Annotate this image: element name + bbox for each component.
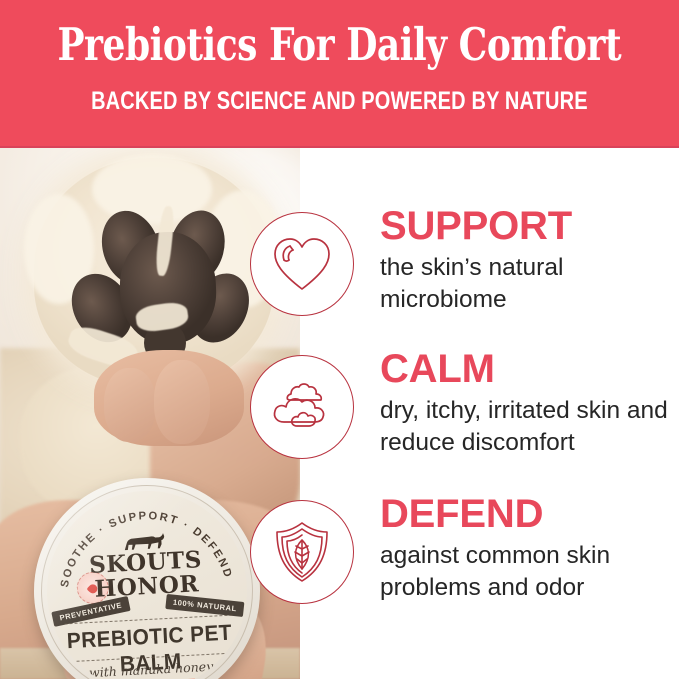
feature-text: SUPPORT the skin’s natural microbiome <box>380 206 676 316</box>
clouds-icon <box>250 355 354 459</box>
banner-subtitle: BACKED BY SCIENCE AND POWERED BY NATURE <box>91 89 588 114</box>
feature-heading: SUPPORT <box>380 206 676 246</box>
product-tin: SOOTHE · SUPPORT · DEFEND SKOUTS HONOR P… <box>28 472 266 679</box>
shield-leaf-icon <box>250 500 354 604</box>
feature-body: dry, itchy, irritated skin and reduce di… <box>380 395 676 459</box>
feature-heading: DEFEND <box>380 494 676 534</box>
tin-lid: SOOTHE · SUPPORT · DEFEND SKOUTS HONOR P… <box>42 486 252 679</box>
finger <box>104 368 156 442</box>
feature-body: against common skin problems and odor <box>380 540 676 604</box>
feature-heading: CALM <box>380 349 676 389</box>
tin-rim: SOOTHE · SUPPORT · DEFEND SKOUTS HONOR P… <box>36 480 259 679</box>
feature-body: the skin’s natural microbiome <box>380 252 676 316</box>
finger <box>154 360 210 444</box>
feature-text: DEFEND against common skin problems and … <box>380 494 676 604</box>
heart-icon <box>250 212 354 316</box>
feature-text: CALM dry, itchy, irritated skin and redu… <box>380 349 676 459</box>
banner-title: Prebiotics For Daily Comfort <box>58 22 622 67</box>
header-banner: Prebiotics For Daily Comfort BACKED BY S… <box>0 0 679 148</box>
infographic-page: Prebiotics For Daily Comfort BACKED BY S… <box>0 0 679 679</box>
